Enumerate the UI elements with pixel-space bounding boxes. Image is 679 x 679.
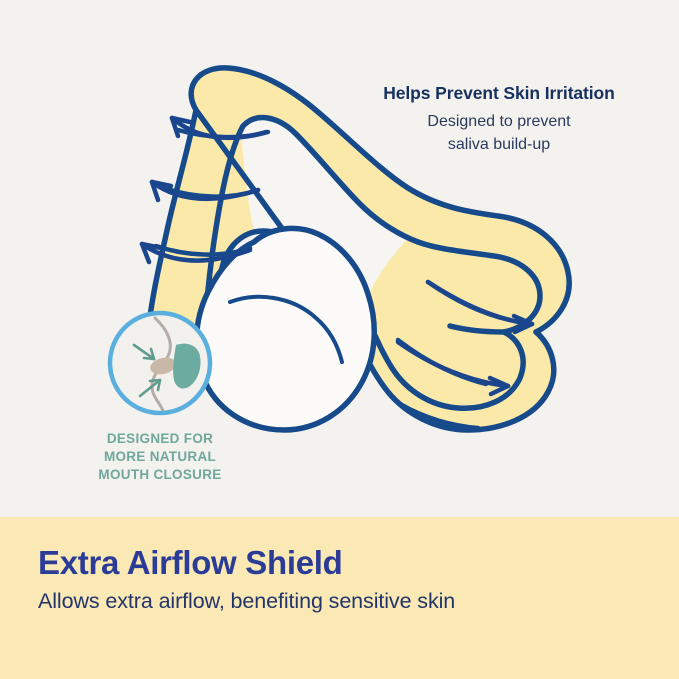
caption-mouth-closure: DESIGNED FOR MORE NATURAL MOUTH CLOSURE bbox=[60, 430, 260, 483]
caption-line-1: DESIGNED FOR bbox=[60, 430, 260, 448]
caption-line-3: MOUTH CLOSURE bbox=[60, 466, 260, 484]
banner-title: Extra Airflow Shield bbox=[38, 545, 679, 581]
callout-skin-irritation: Helps Prevent Skin Irritation Designed t… bbox=[344, 82, 654, 156]
mouth-closure-inset-circle bbox=[110, 313, 210, 414]
feature-banner: Extra Airflow Shield Allows extra airflo… bbox=[0, 517, 679, 679]
callout-line-2: saliva build-up bbox=[344, 133, 654, 156]
callout-line-1: Designed to prevent bbox=[344, 110, 654, 133]
product-feature-infographic: Helps Prevent Skin Irritation Designed t… bbox=[0, 0, 679, 679]
banner-subtitle: Allows extra airflow, benefiting sensiti… bbox=[38, 589, 679, 615]
illustration-stage: Helps Prevent Skin Irritation Designed t… bbox=[0, 0, 679, 517]
callout-title: Helps Prevent Skin Irritation bbox=[344, 82, 654, 106]
caption-line-2: MORE NATURAL bbox=[60, 448, 260, 466]
